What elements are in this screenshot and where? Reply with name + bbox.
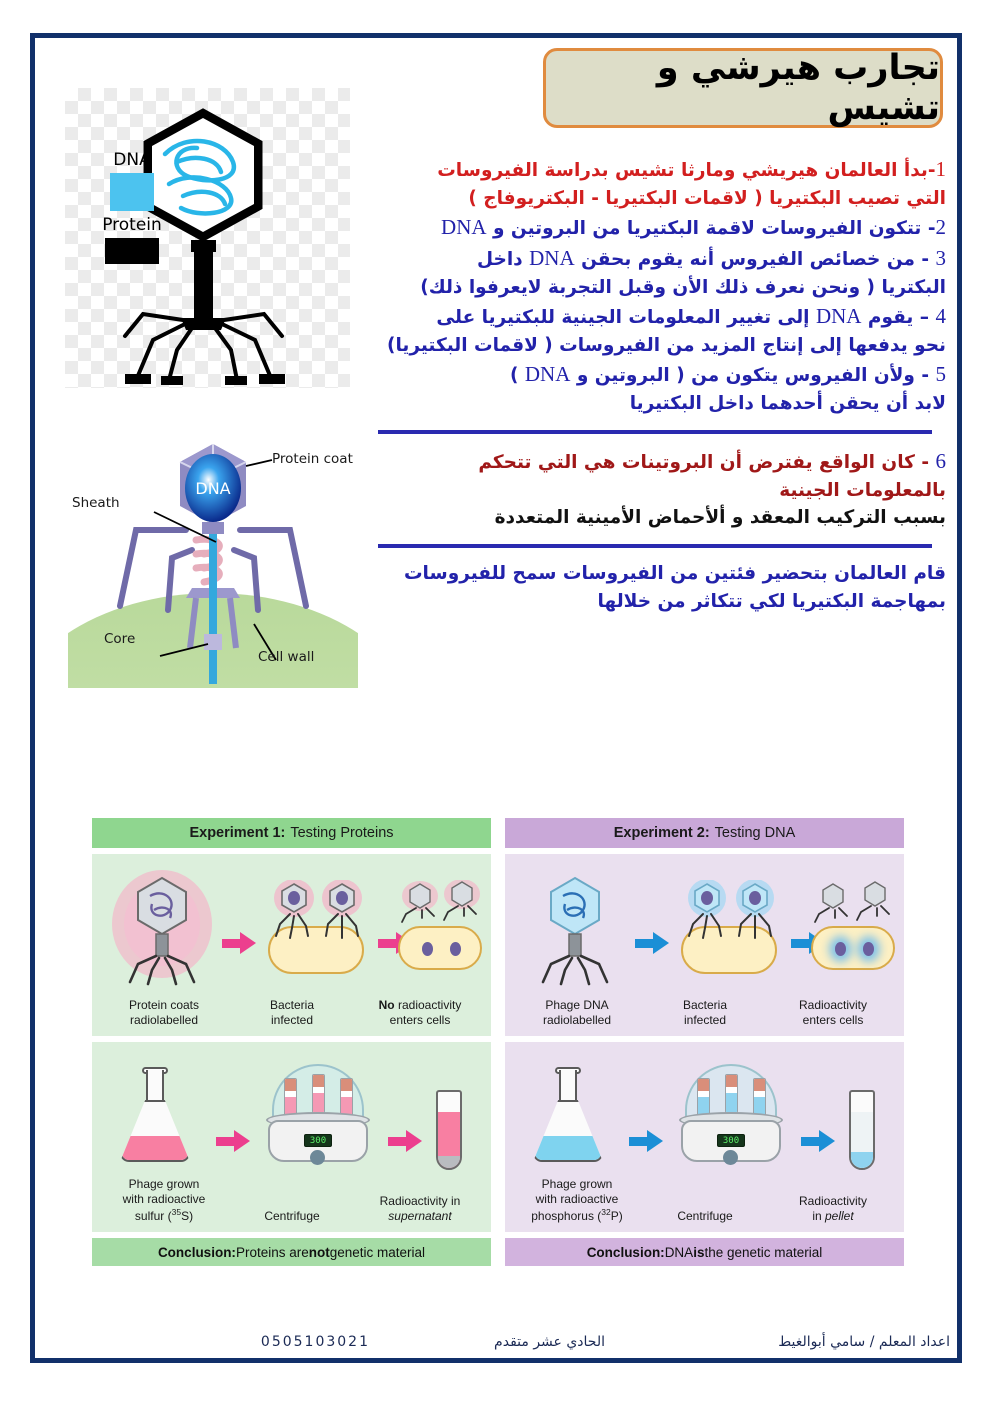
label-sheath: Sheath <box>72 496 120 512</box>
page-title-box: تجارب هيرشي و تشيس <box>543 48 943 128</box>
experiment-1-header: Experiment 1: Testing Proteins <box>92 818 491 848</box>
page-title: تجارب هيرشي و تشيس <box>546 48 940 128</box>
phage-structure-image: DNA Protein <box>65 88 350 388</box>
phage-legend: DNA Protein <box>77 150 187 264</box>
bacterium-with-radioactivity <box>811 926 895 970</box>
point-6-number: 6 <box>936 449 947 473</box>
point-5-dna: DNA <box>525 362 571 386</box>
label-core: Core <box>104 632 135 648</box>
closing-line-2: بمهاجمة البكتيريا لكي تتكاثر من خلالها <box>352 589 946 615</box>
point-6-line-1: 6 - كان الواقع يفترض أن البروتينات هي ال… <box>352 447 946 477</box>
point-1-line-2: التي تصيب البكتيريا ( لاقمات البكتيريا -… <box>352 186 946 212</box>
caption-2-2: Centrifuge <box>226 1209 358 1224</box>
closing-line-1: قام العالمان بتحضير فئتين من الفيروسات س… <box>352 561 946 587</box>
labelled-phage-2 <box>519 866 631 986</box>
arrow-3-1 <box>635 932 669 954</box>
experiment-2-column: Experiment 2: Testing DNA <box>505 818 904 1273</box>
centrifuge-1: 300 <box>260 1064 376 1164</box>
caption-2-3: Radioactivity in supernatant <box>354 1194 486 1224</box>
arrow-1-1 <box>222 932 256 954</box>
svg-text:DNA: DNA <box>195 479 230 498</box>
point-2-line-1: 2- تتكون الفيروسات لاقمة البكتيريا من ال… <box>352 213 946 243</box>
point-6-line-3: بسبب التركيب المعقد و ألأحماض الأمينية ا… <box>352 505 946 531</box>
point-5-line-2: لابد أن يحقن أحدهما داخل البكتيريا <box>352 391 946 417</box>
point-3-line-1: 3 - من خصائص الفيروس أنه يقوم بحقن DNA د… <box>352 244 946 274</box>
point-6-line-2: بالمعلومات الجينية <box>352 478 946 504</box>
page-footer: اعداد المعلم / سامي أبوالغيط الحادي عشر … <box>150 1330 950 1364</box>
lesson-body: 1-بدأ العالمان هيريشي ومارثا تشيس بدراسة… <box>352 155 946 616</box>
experiment-1-header-rest: Testing Proteins <box>290 825 393 841</box>
label-cell-wall: Cell wall <box>258 650 314 666</box>
experiment-1-row-2: 300 Phage grown with radioactive sulfur … <box>92 1042 491 1232</box>
experiment-2-header-bold: Experiment 2: <box>614 825 710 841</box>
point-4-number: 4 <box>936 304 947 328</box>
caption-4-3: Radioactivity in pellet <box>767 1194 899 1224</box>
bacterium-no-radioactivity <box>398 926 482 970</box>
experiment-1-header-bold: Experiment 1: <box>189 825 285 841</box>
footer-phone: 0505103021 <box>261 1334 370 1350</box>
caption-1-3: No radioactivity enters cells <box>354 998 486 1028</box>
centrifuge-display-2: 300 <box>717 1134 745 1147</box>
centrifuge-display-1: 300 <box>304 1134 332 1147</box>
caption-3-1: Phage DNA radiolabelled <box>511 998 643 1028</box>
labelled-phage-1 <box>106 866 218 986</box>
point-1-line-1: 1-بدأ العالمان هيريشي ومارثا تشيس بدراسة… <box>352 155 946 185</box>
point-5-line-1: 5 - ولأن الفيروس يتكون من ( البروتين و D… <box>352 360 946 390</box>
arrow-2-2 <box>388 1130 422 1152</box>
arrow-2-1 <box>216 1130 250 1152</box>
experiment-1-conclusion: Conclusion: Proteins are not genetic mat… <box>92 1238 491 1266</box>
phage-infection-svg: DNA <box>68 438 358 688</box>
legend-protein-label: Protein <box>77 215 187 235</box>
divider-bottom <box>378 544 932 548</box>
caption-1-2: Bacteria infected <box>226 998 358 1028</box>
point-3-number: 3 <box>936 246 947 270</box>
flask-sulfur <box>120 1070 190 1162</box>
tube-supernatant <box>436 1090 462 1170</box>
conclusion-2-label: Conclusion: <box>587 1245 665 1260</box>
point-3-dna: DNA <box>529 246 575 270</box>
document-page: تجارب هيرشي و تشيس <box>0 0 992 1403</box>
attached-phages-1 <box>268 880 368 940</box>
tube-pellet <box>849 1090 875 1170</box>
label-protein-coat: Protein coat <box>272 452 356 468</box>
footer-teacher: اعداد المعلم / سامي أبوالغيط <box>778 1334 950 1350</box>
experiment-2-row-2: 300 Phage grown with radioactive phospho… <box>505 1042 904 1232</box>
caption-4-1: Phage grown with radioactive phosphorus … <box>511 1177 643 1224</box>
point-4-line-2: نحو يدفعها إلى إنتاج المزيد من الفيروسات… <box>352 333 946 359</box>
point-4-dna: DNA <box>816 304 862 328</box>
caption-4-2: Centrifuge <box>639 1209 771 1224</box>
arrow-4-1 <box>629 1130 663 1152</box>
experiment-2-row-1: Phage DNA radiolabelled Bacteria infecte… <box>505 854 904 1036</box>
legend-protein-swatch <box>105 238 159 264</box>
point-4-line-1: 4 – يقوم DNA إلى تغيير المعلومات الجينية… <box>352 302 946 332</box>
experiment-1-column: Experiment 1: Testing Proteins <box>92 818 491 1273</box>
divider-top <box>378 430 932 434</box>
arrow-4-2 <box>801 1130 835 1152</box>
experiment-2-header-rest: Testing DNA <box>715 825 796 841</box>
caption-3-3: Radioactivity enters cells <box>767 998 899 1028</box>
point-2-dna: DNA <box>441 215 487 239</box>
attached-phages-2 <box>681 880 781 940</box>
legend-dna-swatch <box>110 173 154 211</box>
point-2-number: 2 <box>936 215 947 239</box>
phage-infection-diagram: DNA <box>68 438 358 688</box>
caption-3-2: Bacteria infected <box>639 998 771 1028</box>
caption-1-1: Protein coats radiolabelled <box>98 998 230 1028</box>
centrifuge-knob-1[interactable] <box>310 1150 325 1165</box>
conclusion-1-label: Conclusion: <box>158 1245 236 1260</box>
centrifuge-2: 300 <box>673 1064 789 1164</box>
point-1-number: 1 <box>936 157 947 181</box>
caption-2-1: Phage grown with radioactive sulfur (35S… <box>98 1177 230 1224</box>
footer-grade: الحادي عشر متقدم <box>494 1334 605 1350</box>
experiment-2-conclusion: Conclusion: DNA is the genetic material <box>505 1238 904 1266</box>
legend-dna-label: DNA <box>77 150 187 170</box>
hershey-chase-figure: Experiment 1: Testing Proteins <box>92 818 904 1273</box>
experiment-1-row-1: Protein coats radiolabelled Bacteria inf… <box>92 854 491 1036</box>
detached-ghosts-1 <box>398 880 484 924</box>
point-5-number: 5 <box>936 362 947 386</box>
centrifuge-knob-2[interactable] <box>723 1150 738 1165</box>
experiment-2-header: Experiment 2: Testing DNA <box>505 818 904 848</box>
detached-ghosts-2 <box>811 880 897 924</box>
flask-phosphorus <box>533 1070 603 1162</box>
point-3-line-2: البكتريا ( ونحن نعرف ذلك الأن وقبل التجر… <box>352 275 946 301</box>
